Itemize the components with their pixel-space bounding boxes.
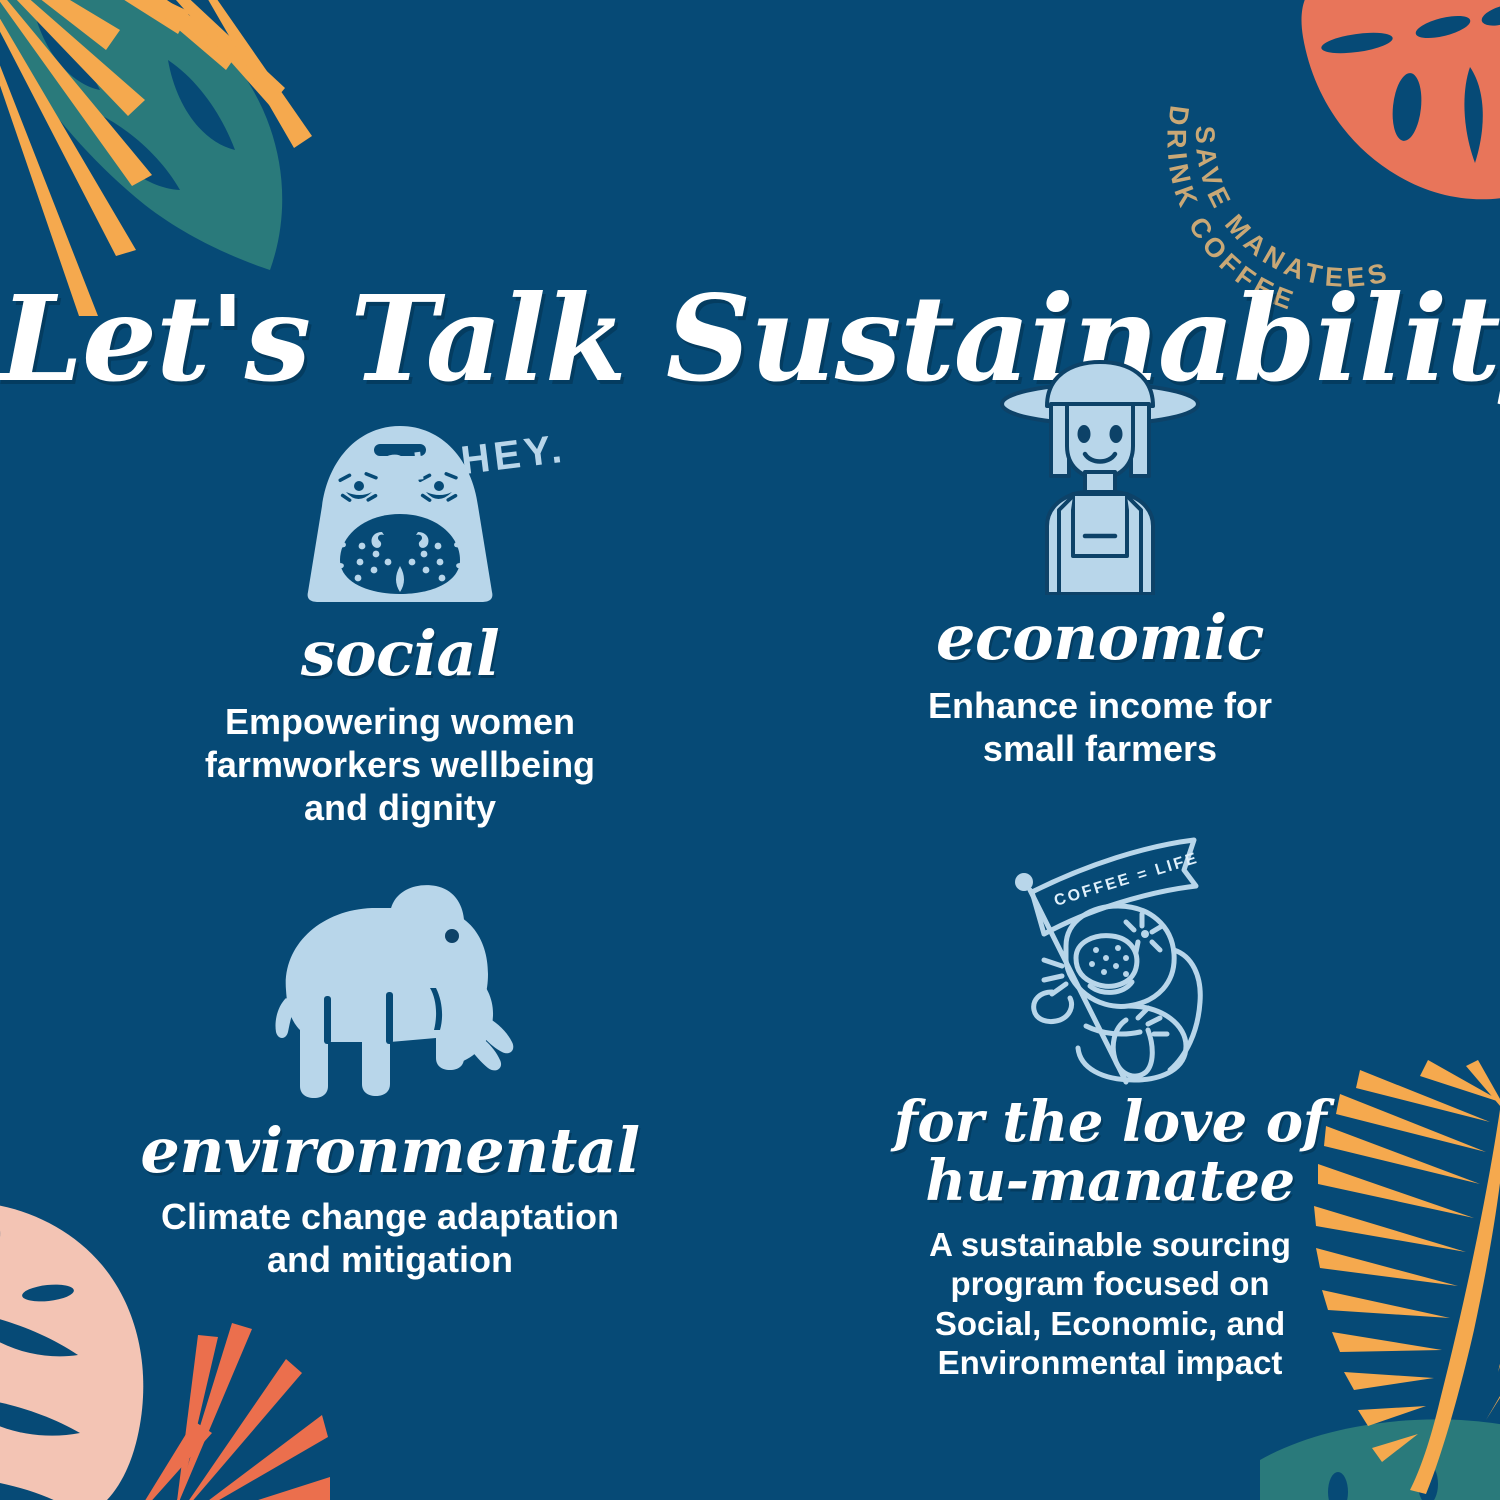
sustainability-infographic: DRINK COFFEE SAVE MANATEES xyxy=(0,0,1500,1500)
manatee-with-flag-icon-wrap: COFFEE = LIFE xyxy=(830,830,1390,1085)
pillar-heading-environmental: environmental xyxy=(70,1118,710,1183)
pillar-economic: economic Enhance income for small farmer… xyxy=(820,360,1380,770)
pillar-body-economic: Enhance income for small farmers xyxy=(820,684,1380,770)
pillar-heading-economic: economic xyxy=(820,605,1380,670)
elephant-icon xyxy=(240,880,540,1110)
manatee-with-flag-icon: COFFEE = LIFE xyxy=(978,830,1243,1085)
pillar-body-manatee: A sustainable sourcing program focused o… xyxy=(830,1225,1390,1383)
woman-farmer-icon-wrap xyxy=(820,360,1380,595)
elephant-icon-wrap xyxy=(70,880,710,1110)
pillar-heading-manatee: for the love of hu-manatee xyxy=(830,1093,1390,1211)
pillar-manatee: COFFEE = LIFE for the love of hu-manatee… xyxy=(830,830,1390,1383)
pillar-environmental: environmental Climate change adaptation … xyxy=(70,880,710,1281)
woman-farmer-icon xyxy=(985,360,1215,595)
pillar-heading-social: social xyxy=(120,621,680,686)
teal-monstera-leaf-corner xyxy=(1260,1419,1500,1500)
pillar-body-environmental: Climate change adaptation and mitigation xyxy=(70,1195,710,1281)
teal-monstera-leaf xyxy=(0,0,282,270)
pillar-body-social: Empowering women farmworkers wellbeing a… xyxy=(120,700,680,830)
coral-palm-fronds xyxy=(130,1323,330,1500)
